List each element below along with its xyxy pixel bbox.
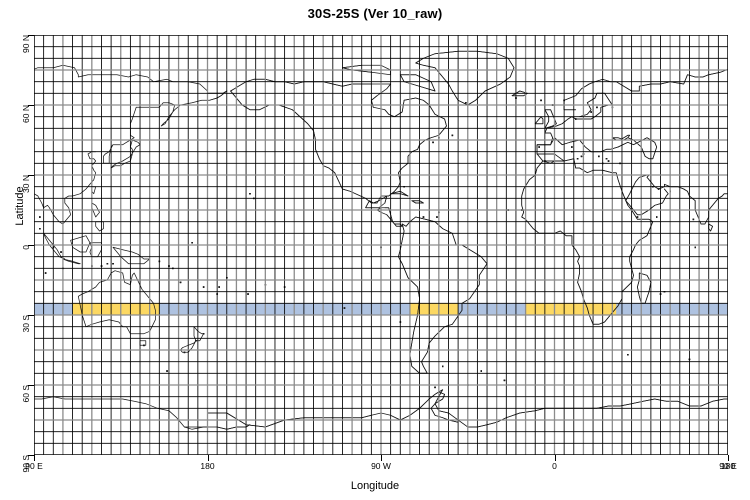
- island-speck: [180, 282, 182, 284]
- y-tick-label: 60 S: [21, 385, 31, 425]
- band-land-cells: [410, 303, 458, 315]
- island-speck: [432, 142, 434, 144]
- island-speck: [436, 216, 438, 218]
- island-speck: [693, 219, 695, 221]
- x-tick-label: 90 E: [4, 461, 64, 471]
- island-speck: [191, 242, 193, 244]
- island-speck: [107, 263, 109, 265]
- island-speck: [112, 263, 114, 265]
- map-plot-area: [34, 35, 728, 455]
- island-speck: [571, 146, 573, 148]
- chart-title: 30S-25S (Ver 10_raw): [0, 6, 750, 21]
- island-speck: [166, 370, 168, 372]
- y-tick: 90 S: [0, 450, 26, 460]
- island-speck: [656, 216, 658, 218]
- x-tick-mark: [381, 455, 382, 461]
- island-speck: [203, 286, 205, 288]
- map-figure: 30S-25S (Ver 10_raw) Latitude Longitude …: [0, 0, 750, 500]
- island-speck: [247, 293, 249, 295]
- island-speck: [504, 380, 506, 382]
- y-tick-mark: [28, 35, 34, 36]
- y-tick-mark: [28, 175, 34, 176]
- y-tick: 30 N: [0, 170, 26, 180]
- x-tick-label: 0: [525, 461, 585, 471]
- y-tick-mark: [28, 455, 34, 456]
- y-tick-label: 90 N: [21, 35, 31, 75]
- y-tick-mark: [28, 315, 34, 316]
- island-speck: [203, 333, 205, 335]
- y-tick: 60 N: [0, 100, 26, 110]
- x-tick-mark: [728, 455, 729, 461]
- y-tick-label: 60 N: [21, 105, 31, 145]
- island-speck: [658, 188, 660, 190]
- island-speck: [249, 193, 251, 195]
- island-speck: [442, 366, 444, 368]
- y-tick-mark: [28, 385, 34, 386]
- x-tick-mark: [208, 455, 209, 461]
- island-speck: [695, 247, 697, 249]
- island-speck: [581, 156, 583, 158]
- island-speck: [598, 156, 600, 158]
- island-speck: [465, 102, 467, 104]
- y-tick-mark: [28, 105, 34, 106]
- island-speck: [577, 158, 579, 160]
- island-speck: [538, 146, 540, 148]
- y-tick-label: 30 S: [21, 315, 31, 355]
- island-speck: [423, 216, 425, 218]
- world-map-svg: [34, 35, 728, 455]
- island-speck: [344, 307, 346, 309]
- y-tick-label: 30 N: [21, 175, 31, 215]
- island-speck: [637, 216, 639, 218]
- x-tick-label: 180: [698, 461, 750, 471]
- band-land-cells: [73, 303, 160, 315]
- island-speck: [184, 352, 186, 354]
- island-speck: [606, 158, 608, 160]
- x-tick-label: 90 W: [351, 461, 411, 471]
- island-speck: [39, 228, 41, 230]
- island-speck: [60, 251, 62, 253]
- island-speck: [575, 118, 577, 120]
- island-speck: [627, 354, 629, 356]
- island-speck: [596, 107, 598, 109]
- y-tick: 0: [0, 240, 26, 250]
- x-tick-mark: [34, 455, 35, 461]
- y-tick-mark: [28, 245, 34, 246]
- y-tick: 60 S: [0, 380, 26, 390]
- island-speck: [481, 370, 483, 372]
- island-speck: [452, 135, 454, 137]
- y-tick: 30 S: [0, 310, 26, 320]
- x-axis-label: Longitude: [0, 480, 750, 492]
- island-speck: [39, 216, 41, 218]
- y-tick: 90 N: [0, 30, 26, 40]
- island-speck: [434, 387, 436, 389]
- island-speck: [143, 345, 145, 347]
- island-speck: [608, 160, 610, 162]
- x-tick-mark: [555, 455, 556, 461]
- island-speck: [195, 340, 197, 342]
- island-speck: [540, 100, 542, 102]
- y-tick-label: 0: [21, 245, 31, 285]
- island-speck: [45, 272, 47, 274]
- band-land-cells: [526, 303, 555, 315]
- x-tick-label: 180: [178, 461, 238, 471]
- island-speck: [218, 286, 220, 288]
- island-speck: [590, 111, 592, 113]
